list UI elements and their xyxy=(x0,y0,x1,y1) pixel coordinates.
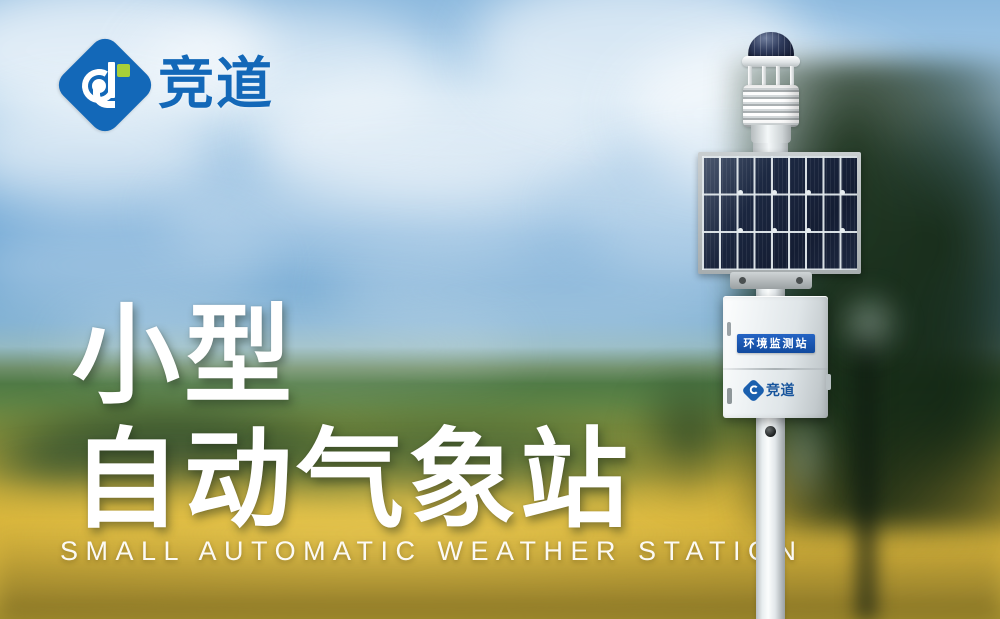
brand-name: 竞道 xyxy=(158,57,274,113)
headline-line-2: 自动气象站 xyxy=(72,424,632,538)
headline-block: 小型 自动气象站 xyxy=(72,300,632,539)
enclosure-brand-name: 竞道 xyxy=(766,384,795,398)
sensor-base xyxy=(751,125,791,143)
logo-stem-shape xyxy=(108,62,115,98)
enclosure-banner-label: 环境监测站 xyxy=(744,338,809,349)
enclosure-latch xyxy=(727,388,732,404)
controller-enclosure: 环境监测站 竞道 xyxy=(723,296,828,418)
headline-line-1: 小型 xyxy=(72,300,632,414)
jingdao-diamond-logo-icon xyxy=(741,378,765,402)
enclosure-brand-logo: 竞道 xyxy=(745,382,795,399)
jingdao-diamond-logo-icon xyxy=(53,33,158,138)
enclosure-seam xyxy=(723,368,828,370)
product-banner: 竞道 小型 自动气象站 SMALL AUTOMATIC WEATHER STAT… xyxy=(0,0,1000,619)
panel-mounting-bracket xyxy=(730,272,812,289)
logo-green-square xyxy=(117,64,130,77)
enclosure-latch xyxy=(826,374,831,390)
mast-bolt xyxy=(765,426,776,437)
solar-cells xyxy=(702,156,857,270)
solar-panel-icon xyxy=(698,152,861,274)
brand-logo: 竞道 xyxy=(68,48,274,122)
weather-station-product: 环境监测站 竞道 xyxy=(690,28,870,619)
ultrasonic-weather-sensor-icon xyxy=(734,28,808,148)
enclosure-banner: 环境监测站 xyxy=(737,334,815,353)
radiation-shield xyxy=(743,85,799,127)
enclosure-latch xyxy=(727,322,731,336)
